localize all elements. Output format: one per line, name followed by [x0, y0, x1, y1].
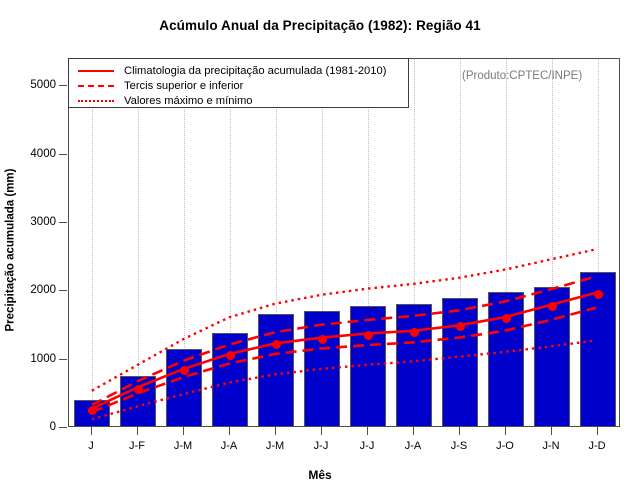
x-tick-label: J-J — [314, 440, 329, 452]
x-tick-mark — [597, 427, 598, 435]
legend-item-label: Climatologia da precipitação acumulada (… — [124, 65, 386, 78]
x-tick-label: J — [88, 440, 94, 452]
product-credit: (Produto:CPTEC/INPE) — [462, 70, 582, 82]
legend-swatch-dotted-icon — [76, 95, 116, 107]
climatology-marker — [364, 331, 373, 340]
climatology-marker — [594, 290, 603, 299]
x-tick-label: J-J — [360, 440, 375, 452]
y-tick-label: 3000 — [12, 216, 56, 228]
legend-item: Valores máximo e mínimo — [76, 94, 401, 108]
x-tick-mark — [505, 427, 506, 435]
chart-root: Acúmulo Anual da Precipitação (1982): Re… — [0, 0, 640, 500]
climatology-marker — [180, 366, 189, 375]
climatology-marker — [318, 335, 327, 344]
x-tick-label: J-M — [266, 440, 284, 452]
x-tick-mark — [459, 427, 460, 435]
x-tick-label: J-O — [496, 440, 514, 452]
legend-item: Climatologia da precipitação acumulada (… — [76, 64, 401, 78]
climatology-marker-group — [69, 59, 619, 426]
x-tick-label: J-F — [129, 440, 145, 452]
y-tick-mark — [59, 154, 67, 155]
climatology-marker — [272, 340, 281, 349]
x-tick-mark — [367, 427, 368, 435]
x-tick-mark — [183, 427, 184, 435]
x-tick-label: J-N — [542, 440, 559, 452]
x-tick-mark — [137, 427, 138, 435]
y-tick-mark — [59, 427, 67, 428]
legend: Climatologia da precipitação acumulada (… — [68, 58, 409, 108]
x-tick-mark — [91, 427, 92, 435]
climatology-marker — [226, 351, 235, 360]
y-tick-mark — [59, 85, 67, 86]
y-tick-label: 2000 — [12, 284, 56, 296]
plot-area — [68, 58, 620, 427]
y-tick-label: 1000 — [12, 353, 56, 365]
legend-item: Tercis superior e inferior — [76, 79, 401, 93]
legend-swatch-solid-icon — [76, 65, 116, 77]
x-tick-mark — [413, 427, 414, 435]
x-axis-title: Mês — [0, 468, 640, 482]
y-axis-title-text: Precipitação acumulada (mm) — [4, 169, 16, 332]
x-tick-label: J-D — [588, 440, 605, 452]
y-tick-mark — [59, 359, 67, 360]
y-tick-mark — [59, 222, 67, 223]
climatology-marker — [548, 302, 557, 311]
page-title: Acúmulo Anual da Precipitação (1982): Re… — [0, 18, 640, 33]
x-tick-label: J-A — [221, 440, 238, 452]
legend-item-label: Valores máximo e mínimo — [124, 95, 253, 108]
climatology-marker — [88, 406, 97, 415]
y-tick-label: 4000 — [12, 148, 56, 160]
y-tick-label: 5000 — [12, 79, 56, 91]
x-tick-label: J-S — [451, 440, 468, 452]
climatology-marker — [456, 322, 465, 331]
x-tick-label: J-A — [405, 440, 422, 452]
legend-swatch-dashed-icon — [76, 80, 116, 92]
x-tick-mark — [275, 427, 276, 435]
x-tick-mark — [321, 427, 322, 435]
climatology-marker — [502, 314, 511, 323]
y-tick-mark — [59, 290, 67, 291]
y-tick-label: 0 — [12, 421, 56, 433]
x-tick-label: J-M — [174, 440, 192, 452]
x-tick-mark — [551, 427, 552, 435]
legend-item-label: Tercis superior e inferior — [124, 80, 243, 93]
climatology-marker — [410, 328, 419, 337]
x-tick-mark — [229, 427, 230, 435]
climatology-marker — [134, 385, 143, 394]
